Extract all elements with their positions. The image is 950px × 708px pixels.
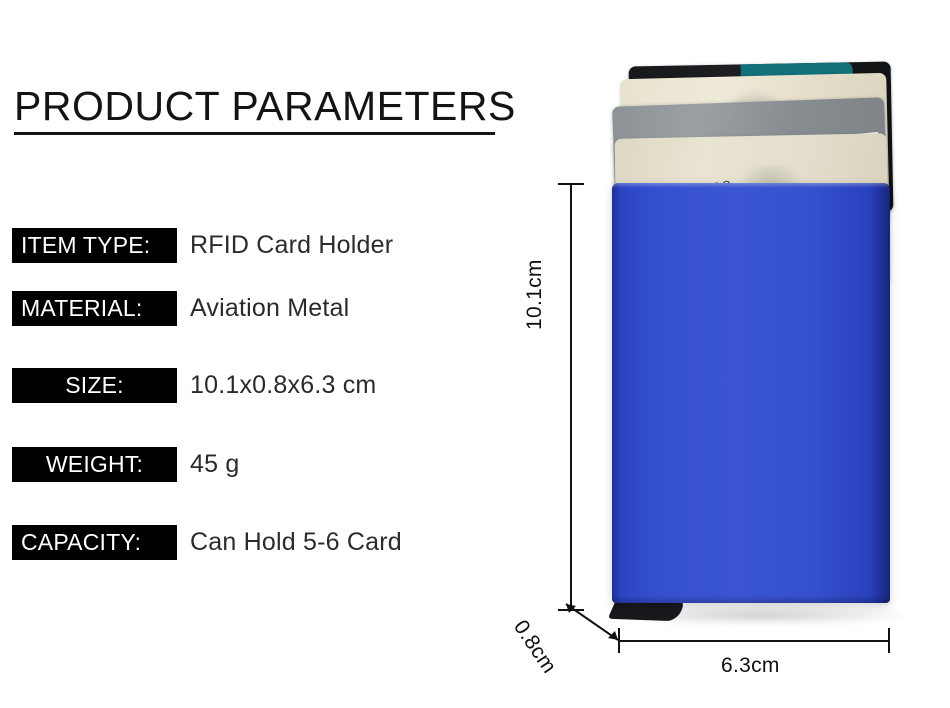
spec-label-size: SIZE:	[12, 368, 177, 403]
spec-label-item-type: ITEM TYPE:	[12, 228, 177, 263]
aluminium-case-body	[612, 183, 890, 603]
product-photo: 40 中粮 Pay 银联	[600, 50, 910, 640]
case-bottom-shading	[612, 595, 890, 603]
width-dimension-label: 6.3cm	[721, 654, 780, 678]
spec-label-capacity: CAPACITY:	[12, 525, 177, 560]
width-dimension-line	[619, 640, 890, 642]
width-dimension-cap-right	[888, 628, 890, 653]
height-dimension-line	[570, 184, 572, 610]
title-underline-divider	[14, 132, 495, 135]
spec-label-material: MATERIAL:	[12, 291, 177, 326]
spec-value-weight: 45 g	[190, 447, 239, 482]
page-title: PRODUCT PARAMETERS	[14, 86, 516, 127]
height-dimension-label: 10.1cm	[523, 259, 547, 330]
spec-label-weight: WEIGHT:	[12, 447, 177, 482]
spec-value-capacity: Can Hold 5-6 Card	[190, 525, 402, 560]
case-top-highlight	[612, 183, 890, 188]
spec-value-material: Aviation Metal	[190, 291, 349, 326]
spec-value-size: 10.1x0.8x6.3 cm	[190, 368, 376, 403]
spec-value-item-type: RFID Card Holder	[190, 228, 393, 263]
